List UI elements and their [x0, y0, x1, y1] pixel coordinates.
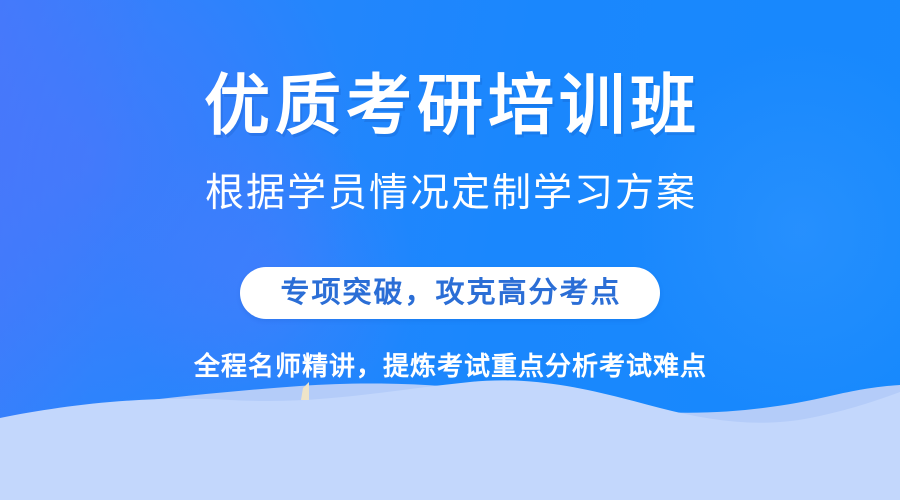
- page-title: 优质考研培训班: [0, 72, 900, 138]
- banner-subtitle: 根据学员情况定制学习方案: [0, 174, 900, 213]
- banner-content: 优质考研培训班 根据学员情况定制学习方案 专项突破，攻克高分考点 全程名师精讲，…: [0, 0, 900, 500]
- highlight-pill-container: 专项突破，攻克高分考点: [0, 267, 900, 319]
- banner-tagline: 全程名师精讲，提炼考试重点分析考试难点: [0, 353, 900, 379]
- promo-banner: 优质考研培训班 根据学员情况定制学习方案 专项突破，攻克高分考点 全程名师精讲，…: [0, 0, 900, 500]
- highlight-pill-label: 专项突破，攻克高分考点: [240, 267, 659, 319]
